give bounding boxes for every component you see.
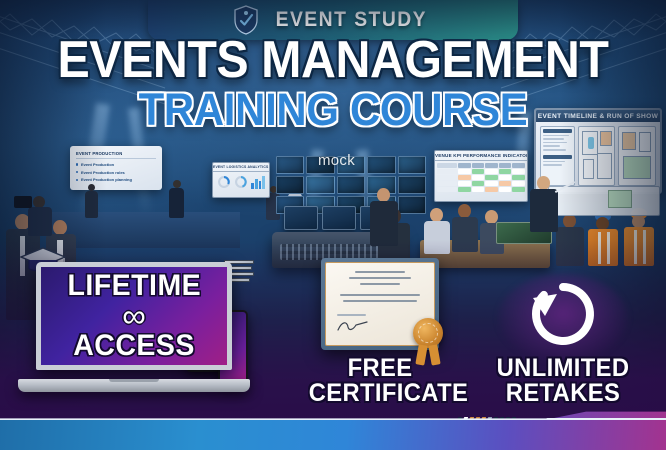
bottom-highlight-line xyxy=(0,418,666,420)
refresh-circle-arrow-icon xyxy=(527,278,599,350)
signature-icon xyxy=(336,319,370,333)
feature-badges: LIFETIME ∞ ACCESS xyxy=(0,224,666,414)
free-certificate-badge: FREE CERTIFICATE xyxy=(305,258,455,406)
headline-block: EVENTS MANAGEMENT TRAINING COURSE xyxy=(0,36,666,131)
promo-banner: EVENT PRODUCTION Event Production Event … xyxy=(0,0,666,450)
bottom-accent-bar xyxy=(0,410,666,450)
award-seal-icon xyxy=(413,318,443,348)
unlimited-retakes-badge: UNLIMITED RETAKES xyxy=(478,278,648,406)
bottom-swoosh xyxy=(0,410,666,450)
infinity-icon: ∞ xyxy=(122,302,146,330)
headline-line-2: TRAINING COURSE xyxy=(23,88,642,131)
laptop-base xyxy=(18,379,249,392)
retakes-caption-line-2: RETAKES xyxy=(482,381,644,406)
access-label: ACCESS xyxy=(73,331,195,361)
certificate-caption-line-2: CERTIFICATE xyxy=(309,381,452,406)
retakes-caption-line-1: UNLIMITED xyxy=(482,356,644,381)
lifetime-label: LIFETIME xyxy=(67,271,201,301)
certificate-icon xyxy=(321,258,439,350)
headline-line-1: EVENTS MANAGEMENT xyxy=(23,36,642,86)
laptop-icon: LIFETIME ∞ ACCESS xyxy=(36,262,232,370)
lifetime-access-badge: LIFETIME ∞ ACCESS xyxy=(36,262,232,392)
certificate-caption-line-1: FREE xyxy=(309,356,452,381)
